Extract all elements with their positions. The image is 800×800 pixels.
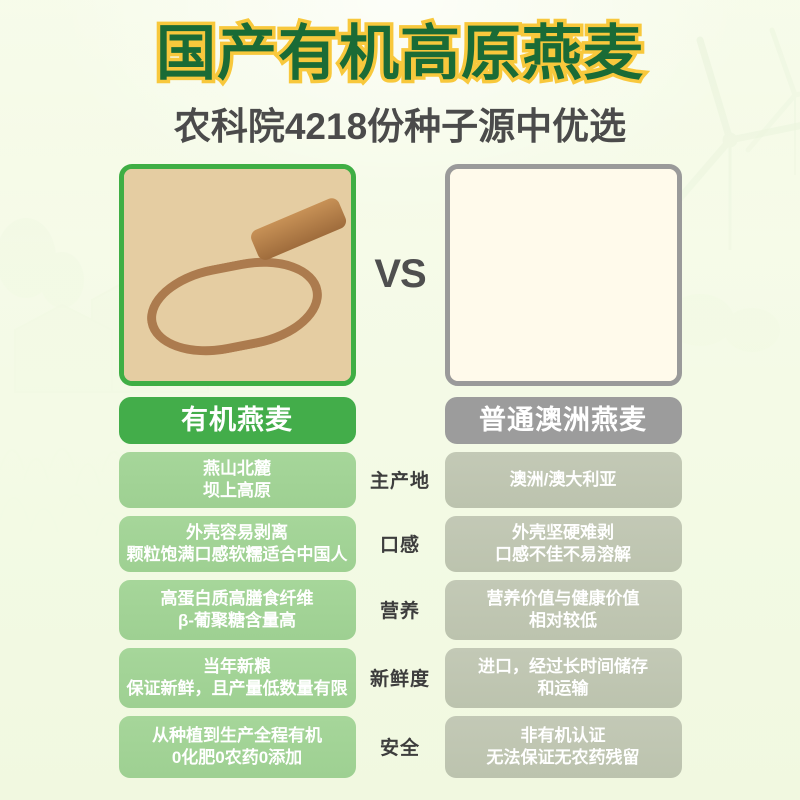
organic-oats-photo [119,164,356,386]
table-row: 燕山北麓 坝上高原 主产地 澳洲/澳大利亚 [0,452,800,508]
header: 国产有机高原燕麦 农科院4218份种子源中优选 [0,0,800,150]
right-cell-line: 和运输 [538,678,589,700]
left-column-header: 有机燕麦 [119,397,356,444]
right-cell: 营养价值与健康价值 相对较低 [445,580,682,640]
right-cell-line: 无法保证无农药残留 [487,747,640,769]
left-cell-line: β-葡聚糖含量高 [178,610,296,632]
row-label: 新鲜度 [356,648,445,708]
row-label: 主产地 [356,452,445,508]
right-cell-line: 口感不佳不易溶解 [495,544,631,566]
left-cell-line: 高蛋白质高膳食纤维 [161,588,314,610]
row-label: 口感 [356,516,445,572]
right-cell-line: 非有机认证 [521,725,606,747]
left-cell-line: 外壳容易剥离 [186,522,288,544]
right-cell-line: 进口，经过长时间储存 [478,656,648,678]
right-cell-line: 外壳坚硬难剥 [512,522,614,544]
product-comparison-photos: VS [0,164,800,386]
right-cell-line: 营养价值与健康价值 [487,588,640,610]
left-cell-line: 保证新鲜，且产量低数量有限 [127,678,348,700]
left-cell-line: 0化肥0农药0添加 [172,747,302,769]
left-cell-line: 坝上高原 [203,480,271,502]
left-cell: 高蛋白质高膳食纤维 β-葡聚糖含量高 [119,580,356,640]
left-cell-line: 颗粒饱满口感软糯适合中国人 [127,544,348,566]
left-cell: 从种植到生产全程有机 0化肥0农药0添加 [119,716,356,778]
header-spacer: · [356,397,445,444]
right-cell: 澳洲/澳大利亚 [445,452,682,508]
left-cell: 当年新粮 保证新鲜，且产量低数量有限 [119,648,356,708]
page-subtitle: 农科院4218份种子源中优选 [0,96,800,150]
ordinary-oats-photo [445,164,682,386]
right-cell-line: 相对较低 [529,610,597,632]
left-cell: 外壳容易剥离 颗粒饱满口感软糯适合中国人 [119,516,356,572]
right-column-header: 普通澳洲燕麦 [445,397,682,444]
right-cell-line: 澳洲/澳大利亚 [510,469,617,491]
left-cell: 燕山北麓 坝上高原 [119,452,356,508]
table-row: 当年新粮 保证新鲜，且产量低数量有限 新鲜度 进口，经过长时间储存 和运输 [0,648,800,708]
left-cell-line: 从种植到生产全程有机 [152,725,322,747]
row-label: 安全 [356,716,445,778]
right-cell: 非有机认证 无法保证无农药残留 [445,716,682,778]
right-cell: 外壳坚硬难剥 口感不佳不易溶解 [445,516,682,572]
table-row: 高蛋白质高膳食纤维 β-葡聚糖含量高 营养 营养价值与健康价值 相对较低 [0,580,800,640]
comparison-table: 有机燕麦 · 普通澳洲燕麦 燕山北麓 坝上高原 主产地 澳洲/澳大利亚 外壳容易… [0,397,800,778]
table-header-row: 有机燕麦 · 普通澳洲燕麦 [0,397,800,444]
row-label: 营养 [356,580,445,640]
left-photo-slot [119,164,356,386]
table-row: 从种植到生产全程有机 0化肥0农药0添加 安全 非有机认证 无法保证无农药残留 [0,716,800,778]
right-photo-slot [445,164,682,386]
left-cell-line: 当年新粮 [203,656,271,678]
left-cell-line: 燕山北麓 [203,458,271,480]
page-title: 国产有机高原燕麦 [0,22,800,86]
oat-flakes-texture [450,169,677,381]
table-row: 外壳容易剥离 颗粒饱满口感软糯适合中国人 口感 外壳坚硬难剥 口感不佳不易溶解 [0,516,800,572]
right-cell: 进口，经过长时间储存 和运输 [445,648,682,708]
vs-label: VS [356,252,445,297]
